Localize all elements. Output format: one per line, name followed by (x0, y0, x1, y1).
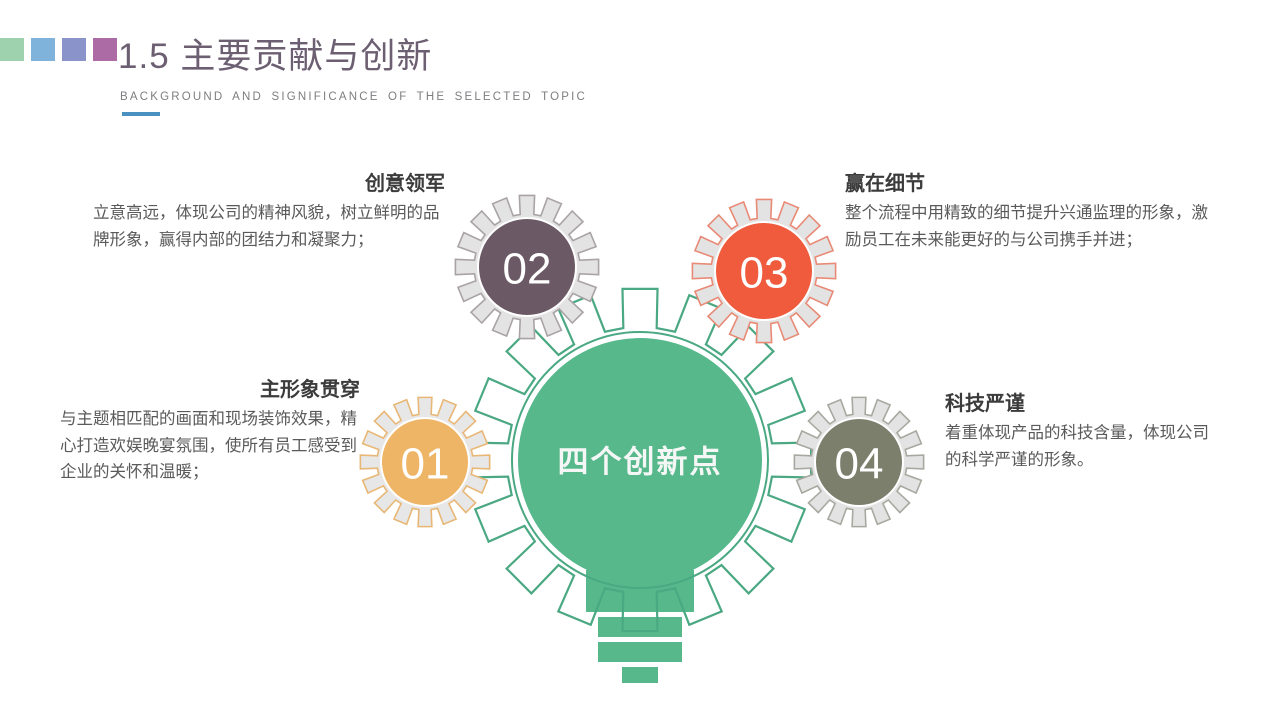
swatch-purple (93, 38, 117, 61)
slide-header: 1.5 主要贡献与创新 BACKGROUND AND SIGNIFICANCE … (0, 0, 1280, 130)
swatch-indigo (62, 38, 86, 61)
feature-body: 着重体现产品的科技含量，体现公司的科学严谨的形象。 (945, 420, 1215, 473)
gear-01-number: 01 (401, 440, 450, 489)
gear-03-number: 03 (740, 249, 789, 298)
bulb-base-bar-2 (598, 642, 682, 662)
feature-title: 科技严谨 (945, 392, 1215, 417)
page-title: 1.5 主要贡献与创新 (118, 28, 432, 79)
swatch-strip (0, 38, 117, 61)
feature-title: 主形象贯穿 (60, 378, 360, 403)
bulb-base-tip (622, 667, 658, 683)
gear-01: 01 (360, 397, 489, 526)
gear-04-number: 04 (835, 440, 884, 489)
gear-02-number: 02 (503, 245, 552, 294)
swatch-blue (31, 38, 55, 61)
feature-block-technology-rigor: 科技严谨 着重体现产品的科技含量，体现公司的科学严谨的形象。 (945, 392, 1215, 473)
bulb-base-bar-1 (598, 617, 682, 637)
gear-03: 03 (692, 199, 835, 342)
swatch-green (0, 38, 24, 61)
center-label: 四个创新点 (558, 445, 723, 480)
gear-02: 02 (455, 195, 598, 338)
bulb-base (586, 570, 694, 683)
feature-block-main-image: 主形象贯穿 与主题相匹配的画面和现场装饰效果，精心打造欢娱晚宴氛围，使所有员工感… (60, 378, 360, 486)
subtitle-rule (122, 112, 160, 116)
gear-04: 04 (794, 397, 923, 526)
feature-body: 与主题相匹配的画面和现场装饰效果，精心打造欢娱晚宴氛围，使所有员工感受到企业的关… (60, 406, 360, 486)
page-subtitle: BACKGROUND AND SIGNIFICANCE OF THE SELEC… (120, 91, 587, 103)
gear-bulb-diagram: 四个创新点 02 03 01 04 (330, 175, 950, 695)
